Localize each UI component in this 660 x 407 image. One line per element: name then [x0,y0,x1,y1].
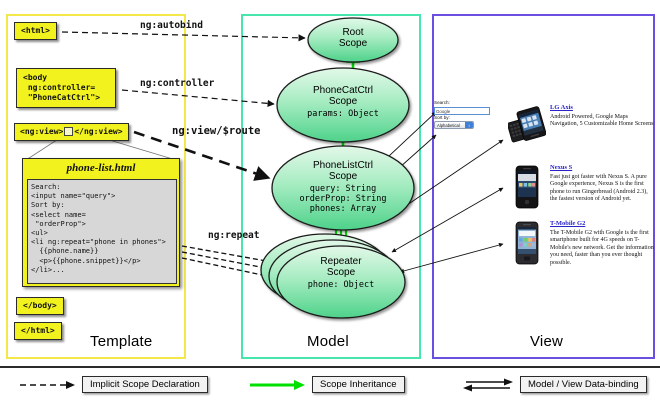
scope-root-name-line1: Root [308,27,398,38]
scope-phonelistctrl-props: query: String orderProp: String phones: … [272,184,414,214]
scope-repeater-props: phone: Object [271,280,411,290]
sort-by-value: Alphabetical [437,123,460,128]
panel-label-template: Template [90,333,152,350]
legend-label: Scope Inheritance [312,376,405,393]
scope-repeater: Repeater Scope phone: Object [271,238,411,318]
ngview-slot-icon [64,127,73,136]
ngview-open-label: <ng:view> [20,127,63,136]
phone-snippet: Fast just got faster with Nexus S. A pur… [550,174,654,204]
legend-label: Implicit Scope Declaration [82,376,208,393]
label-ng-view-route: ng:view/$route [172,125,261,137]
panel-label-model: Model [307,333,349,350]
callout-phone-list-html: phone-list.html Search: <input name="que… [22,158,180,287]
ngview-close-label: </ng:view> [74,127,122,136]
legend-label: Model / View Data-binding [520,376,647,393]
phone-snippet: Android Powered, Google Maps Navigation,… [550,114,654,129]
dashed-arrow-icon [18,378,76,392]
phone-text: LG Axis Android Powered, Google Maps Nav… [550,104,654,129]
phone-image-nexus-s [508,164,546,212]
legend-item-scope-inheritance: Scope Inheritance [248,376,405,394]
tag-body-close: </body> [16,297,64,315]
scope-root: Root Scope [308,18,398,62]
scope-phonecatctrl-name-line1: PhoneCatCtrl [277,85,409,96]
scope-phonecatctrl: PhoneCatCtrl Scope params: Object [277,68,409,142]
green-arrow-icon [248,378,306,392]
scope-repeater-name-line1: Repeater [271,256,411,267]
phone-text: Nexus S Fast just got faster with Nexus … [550,164,654,204]
phone-image-tmobile-g2 [508,220,546,268]
callout-title: phone-list.html [23,159,179,177]
double-arrow-icon [462,378,514,392]
legend: Implicit Scope Declaration Scope Inherit… [0,366,660,407]
phone-name-link[interactable]: LG Axis [550,104,654,111]
scope-phonecatctrl-props: params: Object [277,109,409,119]
scope-phonelistctrl-name-line2: Scope [272,171,414,182]
scope-phonecatctrl-name-line2: Scope [277,96,409,107]
tag-html-close: </html> [14,322,62,340]
label-ng-repeat: ng:repeat [208,230,259,241]
scope-phonelistctrl: PhoneListCtrl Scope query: String orderP… [272,146,414,230]
phone-name-link[interactable]: Nexus S [550,164,654,171]
sort-by-select[interactable]: Alphabetical↕ [434,121,474,129]
scope-phonelistctrl-name-line1: PhoneListCtrl [272,160,414,171]
callout-code: Search: <input name="query"> Sort by: <s… [27,179,177,284]
tag-html-open: <html> [14,22,57,40]
search-input[interactable]: Google [434,107,490,115]
diagram-canvas: <html> <body ng:controller= "PhoneCatCtr… [0,0,660,405]
panel-label-view: View [530,333,563,350]
legend-item-model-view-data-binding: Model / View Data-binding [462,376,647,394]
phone-image-lg-axis [508,104,546,152]
scope-root-name-line2: Scope [308,38,398,49]
legend-item-implicit-scope-declaration: Implicit Scope Declaration [18,376,208,394]
label-ng-controller: ng:controller [140,78,214,89]
phone-name-link[interactable]: T-Mobile G2 [550,220,654,227]
tag-body-open: <body ng:controller= "PhoneCatCtrl"> [16,68,116,108]
tag-ngview: <ng:view></ng:view> [14,123,129,141]
phone-text: T-Mobile G2 The T-Mobile G2 with Google … [550,220,654,267]
chevron-updown-icon: ↕ [465,122,473,128]
label-ng-autobind: ng:autobind [140,20,203,31]
scope-repeater-name-line2: Scope [271,267,411,278]
search-panel: Search: Google Sort by: Alphabetical↕ [434,100,492,132]
phone-snippet: The T-Mobile G2 with Google is the first… [550,230,654,267]
